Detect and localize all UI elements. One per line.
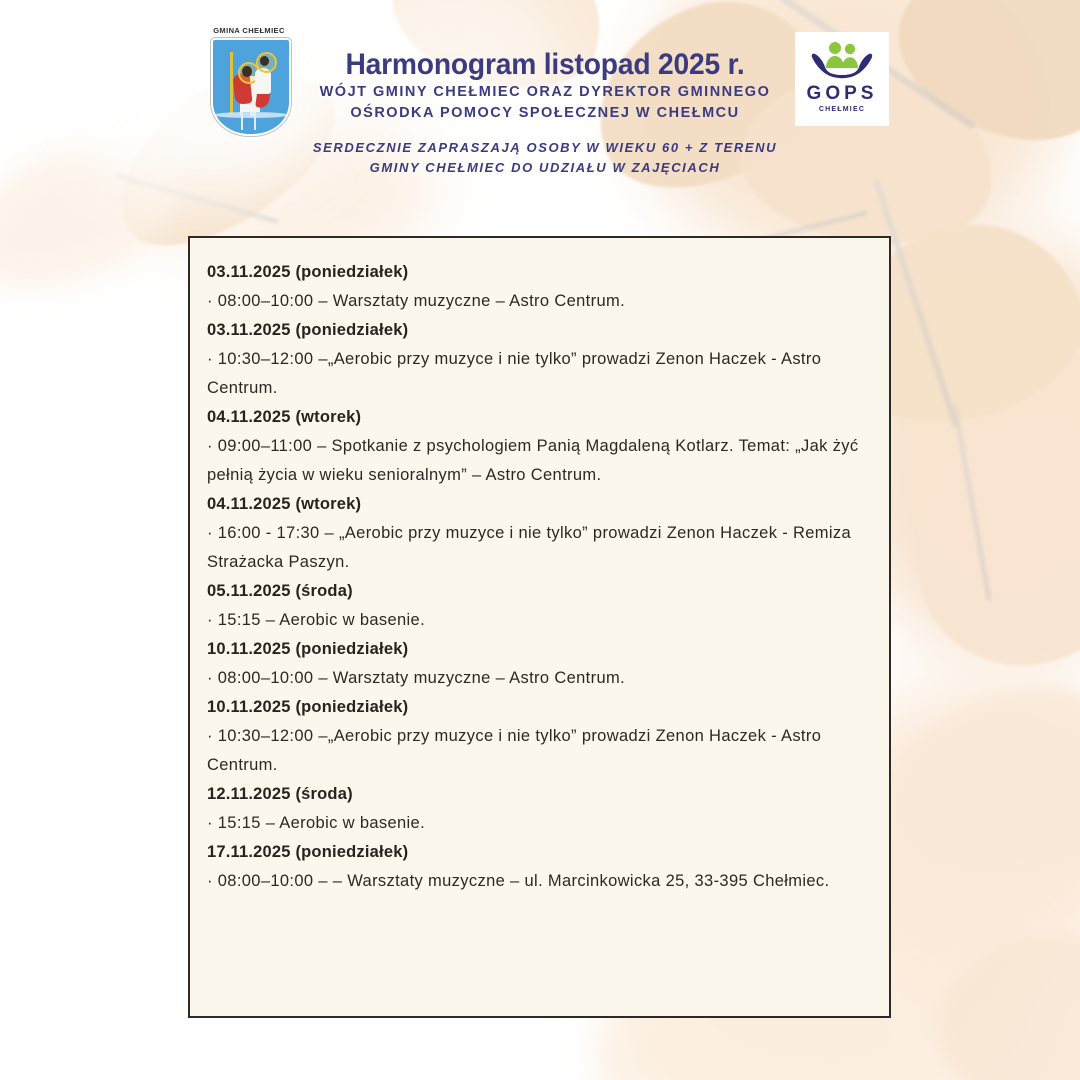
schedule-entry: 04.11.2025 (wtorek)· 16:00 - 17:30 – „Ae… (207, 490, 872, 577)
page-title: Harmonogram listopad 2025 r. (315, 48, 776, 82)
schedule-entry: 10.11.2025 (poniedziałek)· 08:00–10:00 –… (207, 635, 872, 693)
schedule-box: 03.11.2025 (poniedziałek)· 08:00–10:00 –… (188, 236, 891, 1018)
schedule-entry-date: 05.11.2025 (środa) (207, 577, 872, 606)
coat-of-arms-graphic (211, 38, 291, 136)
schedule-entry-date: 04.11.2025 (wtorek) (207, 490, 872, 519)
schedule-entry-detail: · 10:30–12:00 –„Aerobic przy muzyce i ni… (207, 345, 872, 403)
schedule-entry: 03.11.2025 (poniedziałek)· 08:00–10:00 –… (207, 258, 872, 316)
schedule-entry: 12.11.2025 (środa)· 15:15 – Aerobic w ba… (207, 780, 872, 838)
schedule-entry-detail: · 16:00 - 17:30 – „Aerobic przy muzyce i… (207, 519, 872, 577)
schedule-entry-date: 17.11.2025 (poniedziałek) (207, 838, 872, 867)
organizer-line: WÓJT GMINY CHEŁMIEC ORAZ DYREKTOR GMINNE… (290, 82, 800, 124)
schedule-entry-detail: · 15:15 – Aerobic w basenie. (207, 606, 872, 635)
gops-subtitle: CHEŁMIEC (795, 106, 889, 113)
schedule-entry-date: 04.11.2025 (wtorek) (207, 403, 872, 432)
schedule-entry-date: 12.11.2025 (środa) (207, 780, 872, 809)
schedule-entry: 04.11.2025 (wtorek)· 09:00–11:00 – Spotk… (207, 403, 872, 490)
schedule-entry-detail: · 08:00–10:00 – – Warsztaty muzyczne – u… (207, 867, 872, 896)
schedule-entry: 17.11.2025 (poniedziałek)· 08:00–10:00 –… (207, 838, 872, 896)
schedule-entry-date: 03.11.2025 (poniedziałek) (207, 316, 872, 345)
gops-logo: GOPS CHEŁMIEC (795, 32, 889, 126)
schedule-entry-detail: · 08:00–10:00 – Warsztaty muzyczne – Ast… (207, 664, 872, 693)
schedule-entry: 10.11.2025 (poniedziałek)· 10:30–12:00 –… (207, 693, 872, 780)
schedule-entry-detail: · 15:15 – Aerobic w basenie. (207, 809, 872, 838)
coat-of-arms-shield-icon: GMINA CHEŁMIEC (203, 26, 295, 138)
schedule-entry-date: 03.11.2025 (poniedziałek) (207, 258, 872, 287)
schedule-entry-detail: · 09:00–11:00 – Spotkanie z psychologiem… (207, 432, 872, 490)
hands-family-icon (795, 38, 889, 86)
schedule-entry-detail: · 08:00–10:00 – Warsztaty muzyczne – Ast… (207, 287, 872, 316)
schedule-entry-date: 10.11.2025 (poniedziałek) (207, 635, 872, 664)
schedule-entry: 03.11.2025 (poniedziałek)· 10:30–12:00 –… (207, 316, 872, 403)
poster-header: GMINA CHEŁMIEC (0, 0, 1080, 230)
schedule-list: 03.11.2025 (poniedziałek)· 08:00–10:00 –… (190, 238, 889, 896)
invitation-line: SERDECZNIE ZAPRASZAJĄ OSOBY W WIEKU 60 +… (300, 138, 790, 178)
poster-root: GMINA CHEŁMIEC (0, 0, 1080, 1080)
schedule-entry: 05.11.2025 (środa) · 15:15 – Aerobic w b… (207, 577, 872, 635)
schedule-entry-detail: · 10:30–12:00 –„Aerobic przy muzyce i ni… (207, 722, 872, 780)
coat-of-arms-caption: GMINA CHEŁMIEC (203, 26, 295, 35)
gops-wordmark: GOPS (795, 84, 889, 103)
schedule-entry-date: 10.11.2025 (poniedziałek) (207, 693, 872, 722)
